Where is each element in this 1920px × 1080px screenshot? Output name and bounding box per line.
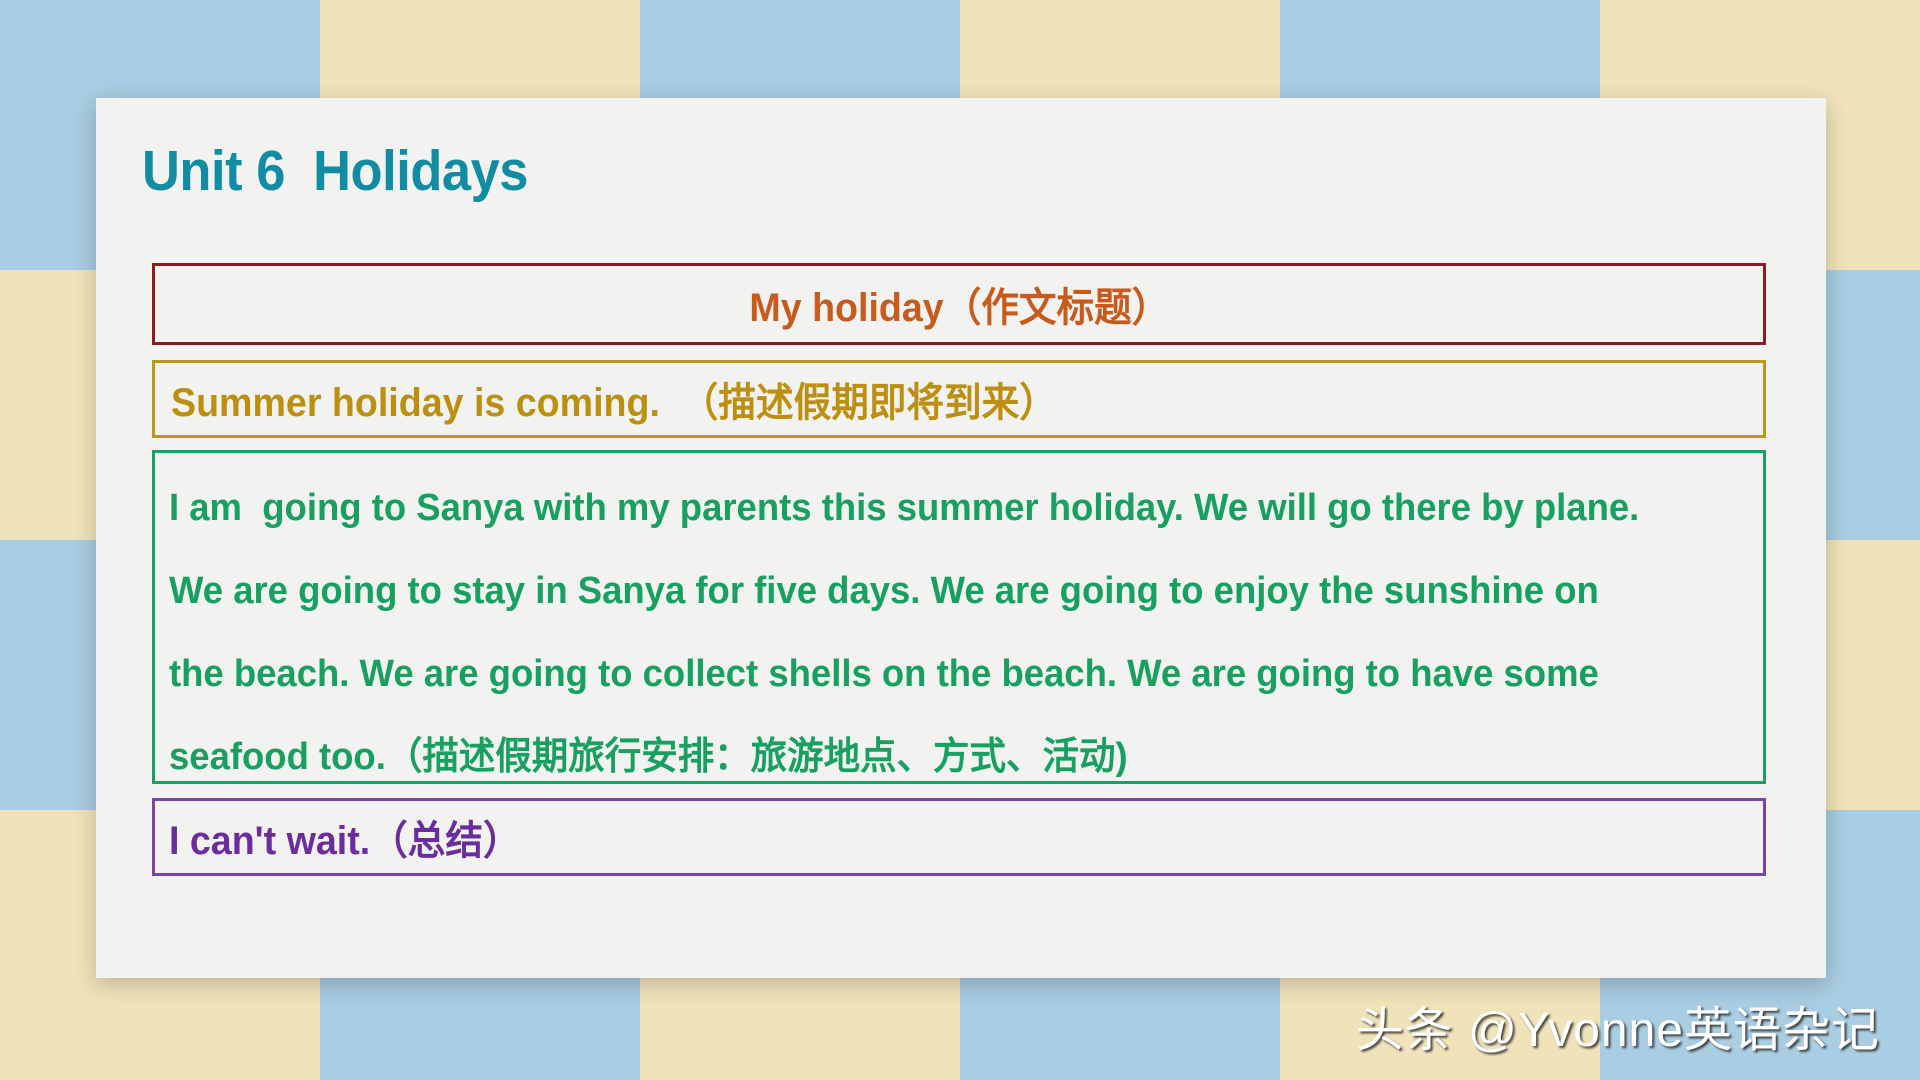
body-paragraph-line-3: the beach. We are going to collect shell… <box>169 633 1688 716</box>
body-paragraph-line-4: seafood too.（描述假期旅行安排：旅游地点、方式、活动) <box>169 716 1688 799</box>
opening-sentence-box: Summer holiday is coming. （描述假期即将到来） <box>152 360 1766 438</box>
body-paragraph-box: I am going to Sanya with my parents this… <box>152 450 1766 784</box>
opening-sentence-text: Summer holiday is coming. （描述假期即将到来） <box>171 370 1057 428</box>
closing-sentence-box: I can't wait.（总结） <box>152 798 1766 876</box>
closing-sentence-text: I can't wait.（总结） <box>169 808 521 866</box>
page-title: Unit 6 Holidays <box>142 138 528 204</box>
body-paragraph-line-1: I am going to Sanya with my parents this… <box>169 467 1688 550</box>
body-paragraph-line-2: We are going to stay in Sanya for five d… <box>169 550 1688 633</box>
slide-card: Unit 6 Holidays My holiday（作文标题） Summer … <box>96 98 1826 978</box>
watermark: 头条 @Yvonne英语杂记 <box>1356 990 1880 1060</box>
composition-title-text: My holiday（作文标题） <box>749 275 1169 333</box>
composition-title-box: My holiday（作文标题） <box>152 263 1766 345</box>
